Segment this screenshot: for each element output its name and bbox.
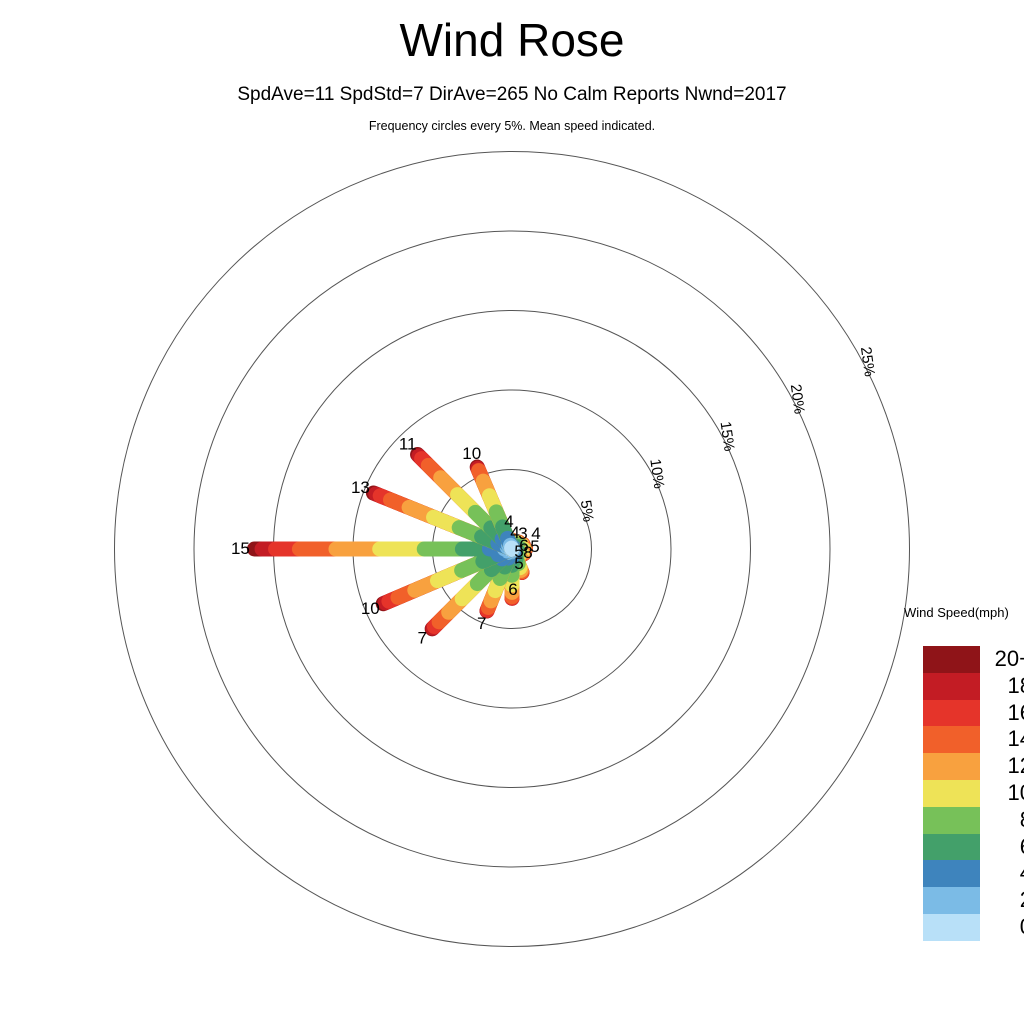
- legend-label: 4: [980, 860, 1024, 887]
- legend-row[interactable]: 2: [923, 887, 1024, 914]
- legend-color-chip: [923, 780, 980, 807]
- legend-color-chip: [923, 860, 980, 887]
- legend-color-chip: [923, 673, 980, 700]
- legend-row[interactable]: 0: [923, 914, 1024, 941]
- mean-speed-label: 8: [523, 543, 532, 562]
- legend-color-chip: [923, 914, 980, 941]
- legend-title: Wind Speed(mph): [904, 605, 1009, 620]
- ring-label: 10%: [646, 458, 667, 490]
- legend-label: 18: [980, 673, 1024, 700]
- wind-rose-plot: 5%10%15%20%25% 771015131110 4434655856: [0, 0, 1024, 1024]
- legend-color-chip: [923, 807, 980, 834]
- petals-group: [254, 455, 525, 629]
- legend-color-chip: [923, 700, 980, 727]
- legend-label: 10: [980, 780, 1024, 807]
- wind-rose-figure: Wind Rose SpdAve=11 SpdStd=7 DirAve=265 …: [0, 0, 1024, 1024]
- legend-label: 0: [980, 914, 1024, 941]
- legend-label: 6: [980, 834, 1024, 861]
- legend-row[interactable]: 16: [923, 700, 1024, 727]
- ring-label: 5%: [577, 499, 597, 523]
- legend-color-chip: [923, 887, 980, 914]
- mean-speed-label: 7: [418, 629, 427, 648]
- legend-color-chip: [923, 753, 980, 780]
- legend-color-chip: [923, 646, 980, 673]
- legend-label: 16: [980, 700, 1024, 727]
- legend-row[interactable]: 4: [923, 860, 1024, 887]
- legend-label: 12: [980, 753, 1024, 780]
- legend-row[interactable]: 8: [923, 807, 1024, 834]
- mean-speed-label: 6: [508, 580, 517, 599]
- legend-label: 14: [980, 726, 1024, 753]
- ring-label: 15%: [717, 420, 738, 452]
- legend-color-chip: [923, 834, 980, 861]
- ring-label: 25%: [857, 346, 878, 378]
- mean-speed-label: 5: [514, 554, 523, 573]
- legend-label: 8: [980, 807, 1024, 834]
- legend-row[interactable]: 6: [923, 834, 1024, 861]
- legend-row[interactable]: 12: [923, 753, 1024, 780]
- mean-speed-label: 13: [351, 478, 370, 497]
- legend-row[interactable]: 18: [923, 673, 1024, 700]
- mean-speed-label: 10: [462, 444, 481, 463]
- legend-label: 20+: [980, 646, 1024, 673]
- legend-label: 2: [980, 887, 1024, 914]
- legend-swatches: 20+181614121086420: [923, 646, 1024, 941]
- mean-speed-label: 11: [399, 435, 417, 454]
- mean-speed-label: 15: [231, 539, 250, 558]
- mean-speed-label: 10: [361, 599, 380, 618]
- ring-label: 20%: [787, 383, 808, 415]
- legend-row[interactable]: 14: [923, 726, 1024, 753]
- mean-speed-label: 7: [477, 614, 486, 633]
- legend-row[interactable]: 20+: [923, 646, 1024, 673]
- legend-color-chip: [923, 726, 980, 753]
- legend-row[interactable]: 10: [923, 780, 1024, 807]
